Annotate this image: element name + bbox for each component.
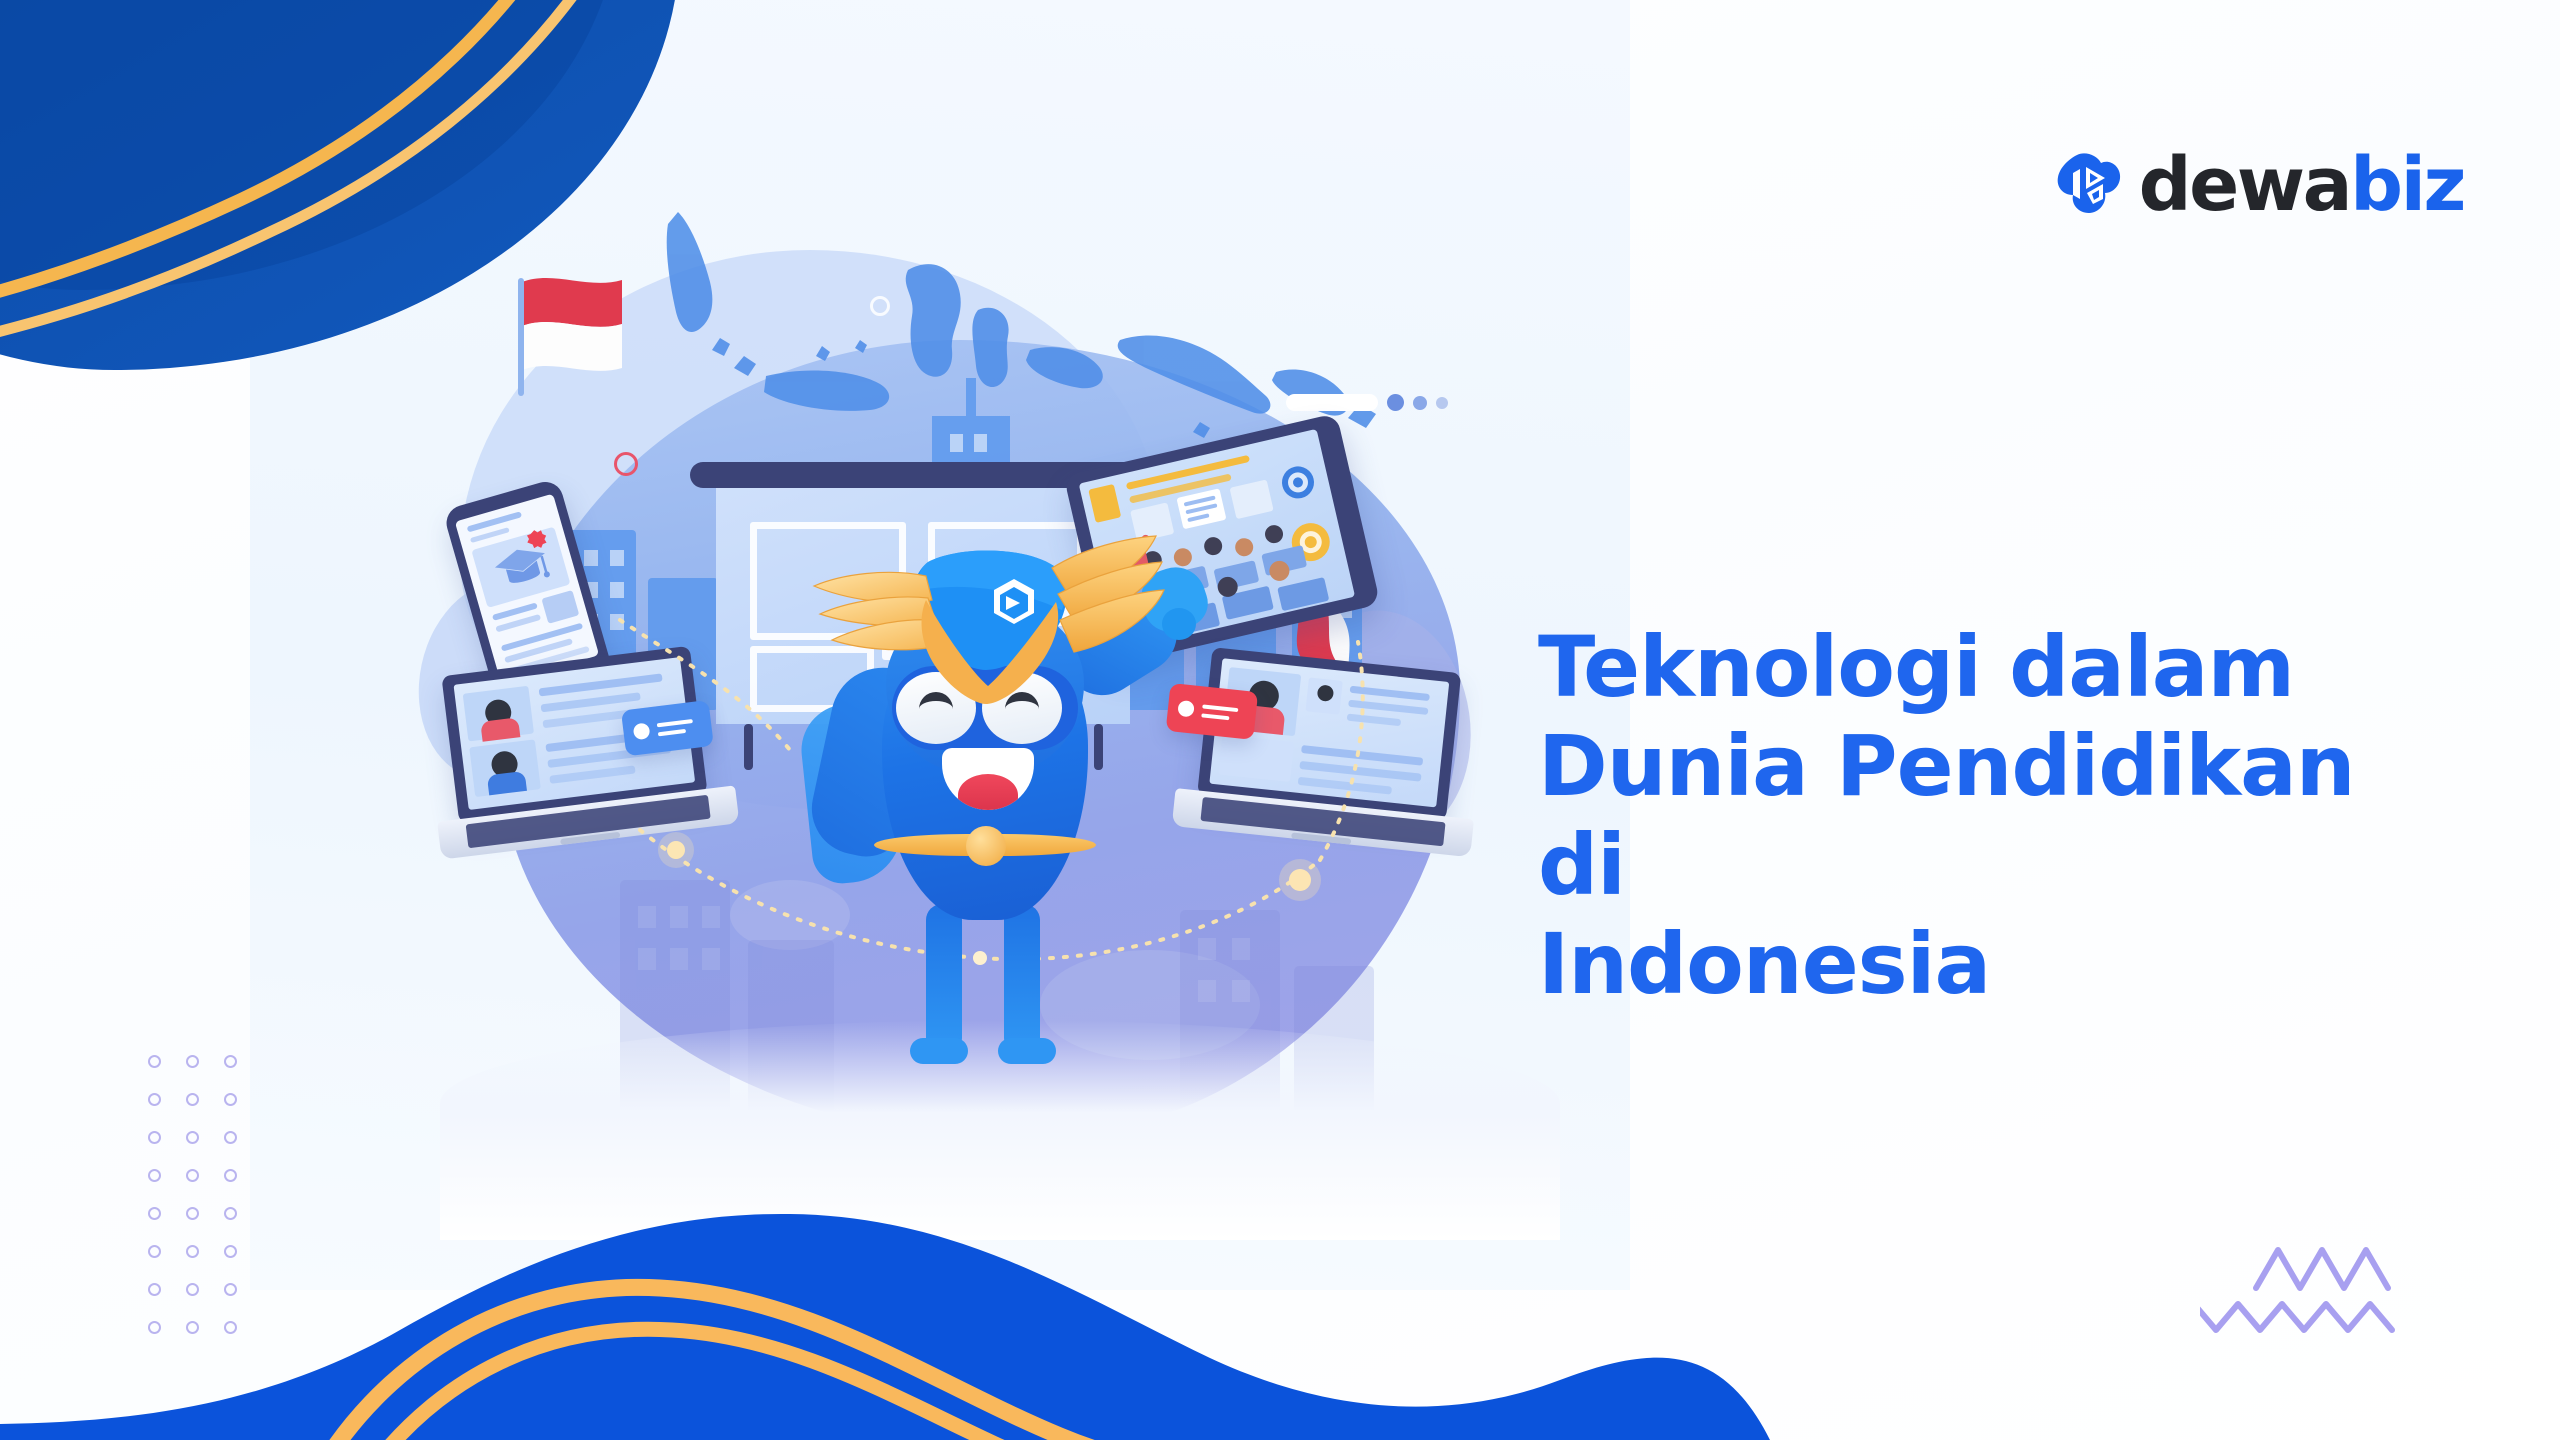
mascot-left-leg	[926, 904, 962, 1050]
chat-bubble-lines	[657, 719, 694, 736]
white-ring-decoration	[870, 296, 890, 316]
hero-illustration	[440, 190, 1560, 1200]
target-icon	[1276, 461, 1319, 504]
dewabiz-superhero-mascot	[770, 490, 1200, 1140]
mascot-belt-buckle	[966, 826, 1006, 866]
logo-text-accent: biz	[2350, 142, 2464, 228]
bottom-wave-decoration	[0, 1210, 2560, 1440]
mascot-tongue	[958, 774, 1018, 810]
page-title: Teknologi dalam Dunia Pendidikan di Indo…	[1538, 618, 2468, 1014]
notification-bubble-lines	[1201, 704, 1238, 721]
student-avatar	[1202, 535, 1224, 557]
student-avatar	[1233, 536, 1255, 558]
indonesian-flag-icon	[518, 268, 628, 398]
mascot-right-leg	[1004, 904, 1040, 1050]
dewabiz-logo[interactable]: dewabiz	[2053, 148, 2464, 222]
pill-capsule	[1286, 394, 1378, 411]
laptop-left-device	[420, 642, 741, 867]
logo-text-primary: dewa	[2139, 142, 2350, 228]
pill-dot-3	[1436, 397, 1448, 409]
pill-dot-2	[1413, 396, 1427, 410]
banner-canvas: dewabiz Teknologi dalam Dunia Pendidikan…	[0, 0, 2560, 1440]
dewabiz-wordmark: dewabiz	[2139, 148, 2464, 222]
laptop-right-device	[1171, 645, 1489, 865]
mascot-left-foot	[910, 1038, 968, 1064]
whiteboard-leg-left	[744, 724, 753, 770]
student-avatar	[1263, 523, 1285, 545]
chat-bubble-dot	[633, 722, 651, 740]
motion-pill-decoration	[1286, 394, 1448, 411]
red-ring-decoration	[614, 452, 638, 476]
pill-dot-1	[1387, 394, 1404, 411]
mascot-winged-helmet-icon	[808, 524, 1168, 724]
dewabiz-hexagon-mark-icon	[2053, 149, 2125, 221]
mascot-right-foot	[998, 1038, 1056, 1064]
